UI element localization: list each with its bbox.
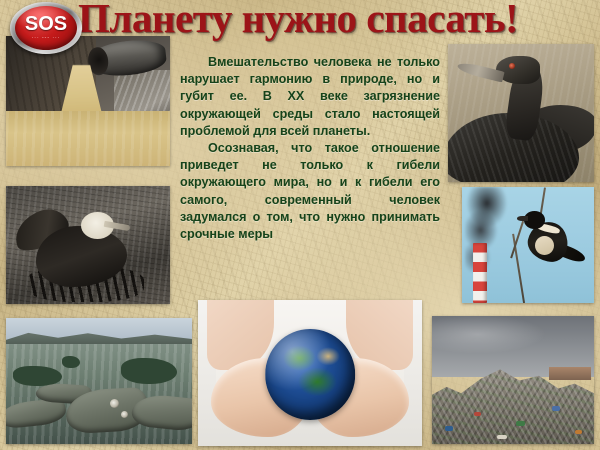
- photo-oiled-cormorant: [448, 44, 594, 182]
- page-title: Планету нужно спасать!: [78, 0, 598, 40]
- photo-sewage-pipe: [6, 36, 170, 166]
- landfill-debris: [497, 435, 507, 439]
- poster-canvas: Планету нужно спасать! SOS ··· --- ··· В…: [0, 0, 600, 450]
- body-paragraph-2: Осознавая, что такое отношение приведет …: [180, 140, 440, 243]
- poster-title-bar: Планету нужно спасать!: [78, 0, 598, 40]
- cormorant-head: [496, 56, 540, 84]
- sos-badge-letters: SOS: [25, 15, 67, 34]
- landfill-building: [549, 367, 591, 380]
- sos-badge-face: SOS ··· --- ···: [15, 6, 77, 50]
- factory-smokestack: [473, 243, 488, 303]
- landfill-debris: [575, 430, 582, 434]
- photo-dead-fish: [6, 318, 192, 444]
- poster-body-text: Вмешательство человека не только нарушае…: [180, 54, 440, 243]
- bird-beak: [517, 216, 528, 221]
- cormorant-eye: [509, 63, 515, 69]
- pipe-foam-pool: [6, 111, 170, 166]
- photo-oiled-bird-shore: [6, 186, 170, 304]
- landfill-debris: [445, 426, 453, 431]
- photo-bird-on-branch-smokestack: [462, 187, 594, 303]
- sos-morse-code: ··· --- ···: [32, 35, 61, 41]
- earth-globe: [265, 329, 355, 420]
- fish-eye: [110, 399, 119, 408]
- photo-landfill: [432, 316, 594, 444]
- body-paragraph-1: Вмешательство человека не только нарушае…: [180, 54, 440, 140]
- photo-hands-holding-earth: [198, 300, 422, 446]
- landfill-debris: [474, 412, 481, 416]
- sos-badge: SOS ··· --- ···: [10, 2, 82, 54]
- landfill-debris: [516, 421, 525, 426]
- fish-weed: [121, 358, 177, 383]
- landfill-debris: [552, 406, 560, 411]
